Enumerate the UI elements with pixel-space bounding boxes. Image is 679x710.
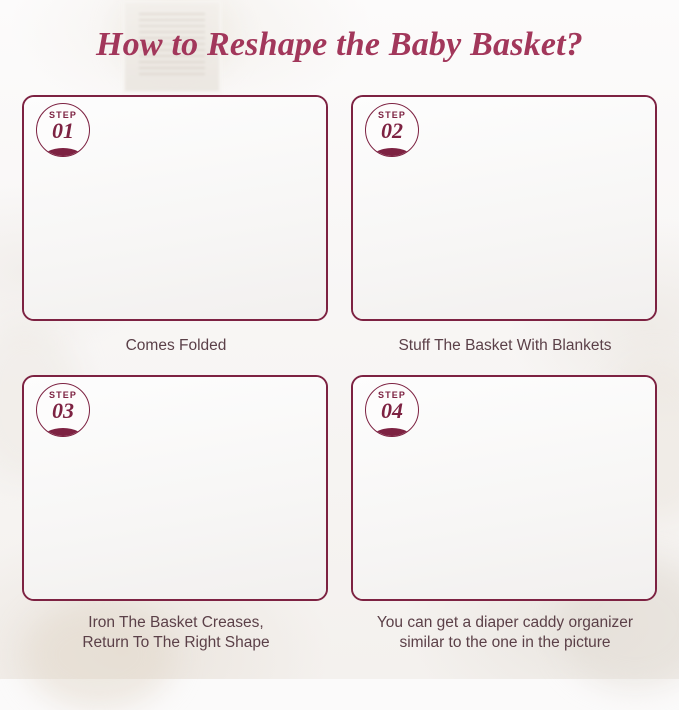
step-caption-04: You can get a diaper caddy organizer sim…: [345, 613, 665, 653]
step-card-frame: STEP 01: [22, 95, 328, 321]
badge-arc: [42, 148, 84, 157]
step-card-frame: STEP 02: [351, 95, 657, 321]
step-number: 02: [366, 119, 418, 143]
step-number: 03: [37, 399, 89, 423]
step-card-02: STEP 02: [351, 95, 659, 321]
step-card-frame: STEP 03: [22, 375, 328, 601]
step-caption-03: Iron The Basket Creases, Return To The R…: [16, 613, 336, 653]
step-badge-02: STEP 02: [365, 103, 419, 157]
badge-arc: [371, 428, 413, 437]
caption-line: Return To The Right Shape: [16, 633, 336, 653]
step-card-04: STEP 04: [351, 375, 659, 601]
caption-line: Comes Folded: [16, 336, 336, 356]
step-caption-02: Stuff The Basket With Blankets: [345, 336, 665, 356]
step-caption-01: Comes Folded: [16, 336, 336, 356]
step-number: 01: [37, 119, 89, 143]
badge-arc: [42, 428, 84, 437]
caption-line: similar to the one in the picture: [345, 633, 665, 653]
caption-line: Iron The Basket Creases,: [16, 613, 336, 633]
step-badge-04: STEP 04: [365, 383, 419, 437]
step-badge-03: STEP 03: [36, 383, 90, 437]
caption-line: Stuff The Basket With Blankets: [345, 336, 665, 356]
page-title: How to Reshape the Baby Basket?: [0, 26, 679, 64]
step-card-frame: STEP 04: [351, 375, 657, 601]
caption-line: You can get a diaper caddy organizer: [345, 613, 665, 633]
step-badge-01: STEP 01: [36, 103, 90, 157]
step-card-03: STEP 03: [22, 375, 330, 601]
badge-arc: [371, 148, 413, 157]
step-card-01: STEP 01: [22, 95, 330, 321]
step-number: 04: [366, 399, 418, 423]
